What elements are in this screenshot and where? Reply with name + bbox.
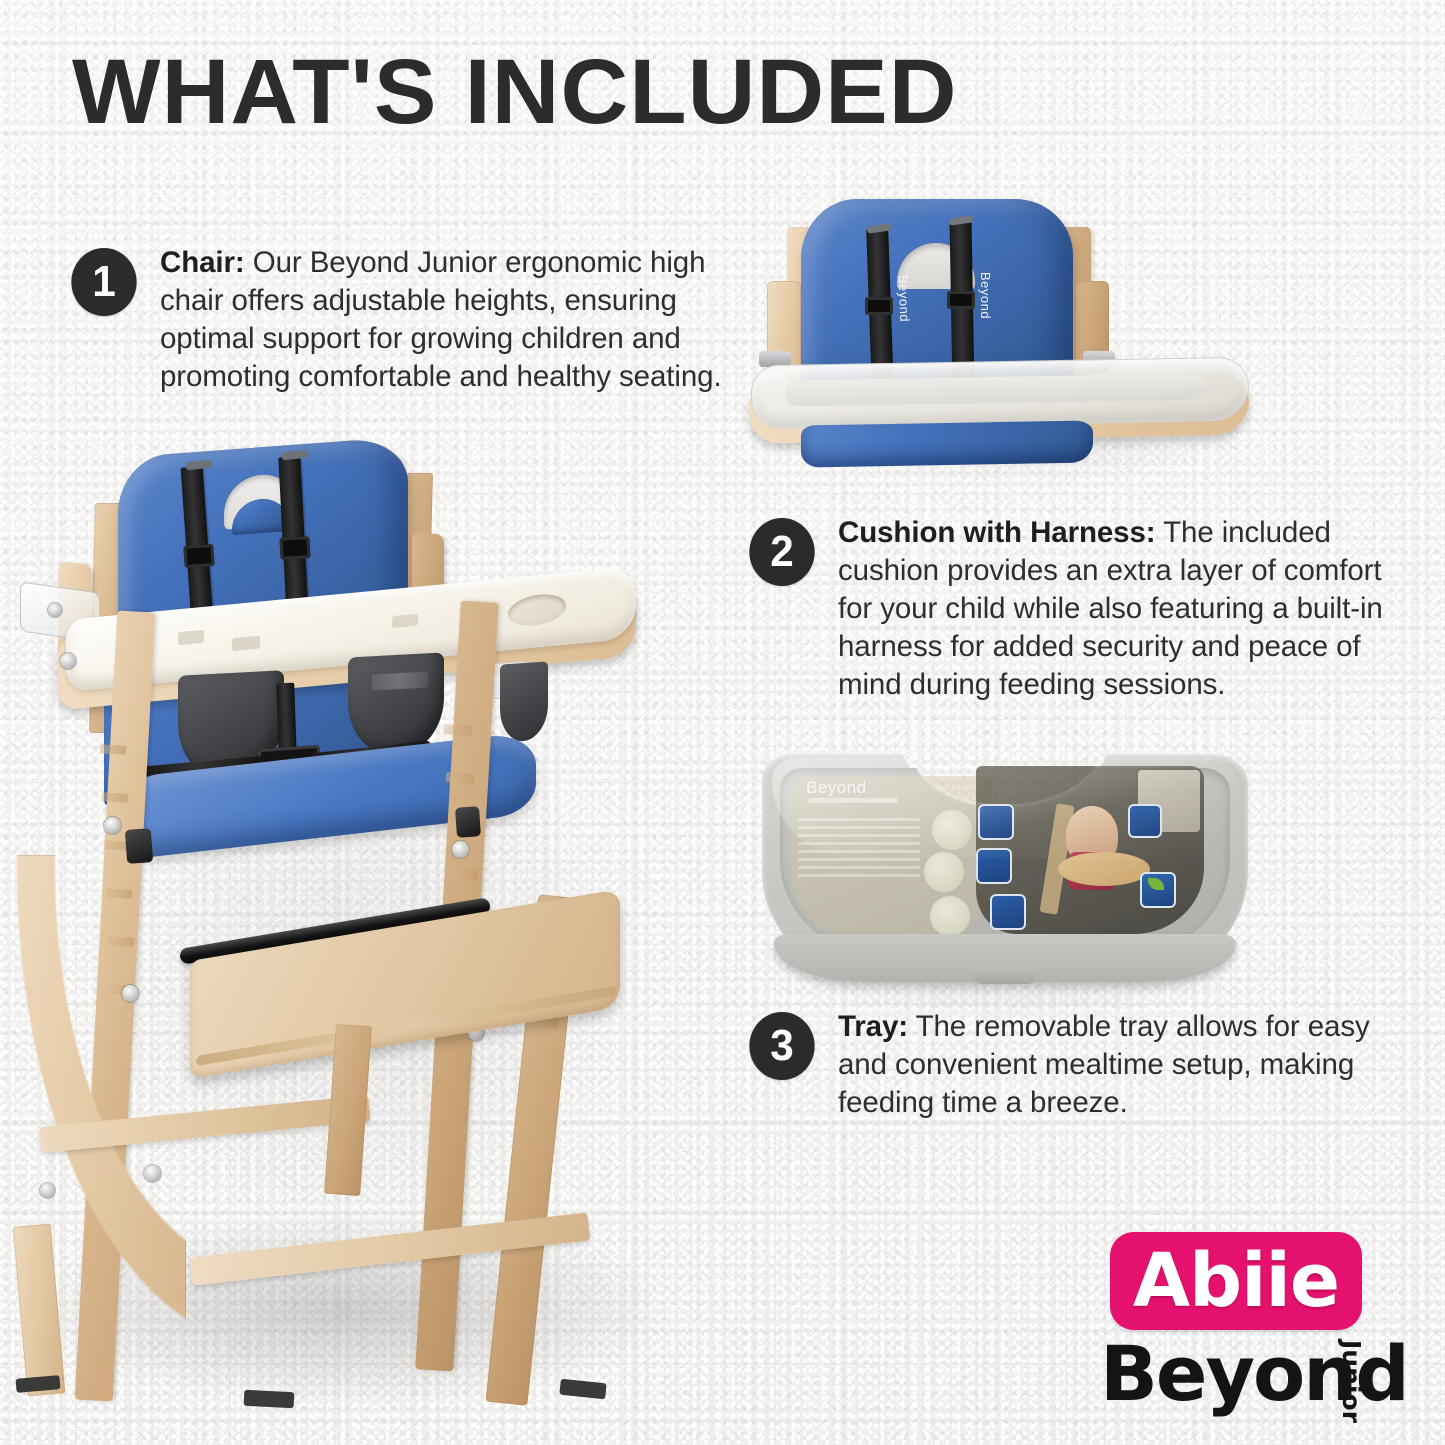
tray-release-tab	[974, 968, 1036, 984]
badge-number-3: 3	[749, 1012, 814, 1080]
included-item-1: 1 Chair: Our Beyond Junior ergonomic hig…	[70, 248, 730, 396]
infographic-canvas: WHAT'S INCLUDED	[0, 0, 1445, 1445]
harness-buckle-right	[279, 536, 310, 560]
tray-insert-brand-text: Beyond	[806, 778, 867, 798]
included-item-1-heading: Chair:	[160, 246, 245, 279]
tray-insert-tagline	[808, 798, 898, 803]
included-item-2-text: Cushion with Harness: The included cushi…	[838, 514, 1398, 704]
tray-groove-b	[232, 636, 260, 652]
included-item-3: 3 Tray: The removable tray allows for ea…	[748, 1012, 1388, 1122]
frame-screw-5	[452, 841, 469, 858]
frame-screw-1	[60, 653, 76, 669]
included-item-3-body: The removable tray allows for easy and c…	[838, 1010, 1370, 1119]
logo-product-qualifier-text: Junior	[1337, 1340, 1366, 1423]
brand-logo: Abiie ® Beyond Junior	[1100, 1232, 1400, 1427]
harness-buckle-left	[183, 544, 214, 568]
tray-insert-circle-3	[930, 896, 970, 936]
cushion-harness-buckle-right	[947, 291, 975, 309]
included-item-2: 2 Cushion with Harness: The included cus…	[748, 518, 1398, 704]
logo-brand-text: Abiie	[1110, 1232, 1362, 1330]
frame-screw-2	[104, 817, 121, 834]
tray-icon-badge-highchair	[976, 848, 1012, 884]
seat-adjust-pin	[125, 828, 153, 864]
page-title: WHAT'S INCLUDED	[72, 46, 958, 138]
high-chair-photo	[0, 425, 700, 1435]
tray-insert-paragraph	[798, 818, 920, 880]
tray-clip-screw	[48, 603, 62, 617]
tray-groove-c	[392, 614, 418, 628]
tray-insert-photo-tray	[1058, 852, 1150, 886]
harness-strap-label-left: Beyond	[834, 275, 915, 300]
included-item-3-text: Tray: The removable tray allows for easy…	[838, 1008, 1388, 1122]
included-item-2-heading: Cushion with Harness:	[838, 516, 1156, 549]
removable-tray-photo: Beyond	[762, 748, 1252, 998]
tray-icon-badge-bottle	[1128, 804, 1162, 838]
included-item-1-text: Chair: Our Beyond Junior ergonomic high …	[160, 244, 730, 396]
front-foot-left	[244, 1390, 295, 1409]
tray-insert-circle-2	[924, 852, 964, 892]
tray-icon-badge-thermometer	[990, 894, 1026, 930]
tray-icon-badge-grid	[978, 804, 1014, 840]
seat-adjust-pin-right	[455, 806, 481, 838]
cushion-with-harness-photo: Beyond Beyond	[745, 185, 1275, 480]
included-item-1-body: Our Beyond Junior ergonomic high chair o…	[160, 246, 722, 393]
tray-icon-badge-eco-leaf	[1140, 872, 1176, 908]
tray-groove-a	[178, 630, 204, 645]
badge-number-1: 1	[71, 248, 136, 316]
included-item-3-heading: Tray:	[838, 1010, 908, 1043]
seat-support-abiie-emboss	[372, 672, 428, 691]
cushion-harness-buckle-left	[865, 297, 893, 315]
cushion-seat-pad	[801, 420, 1093, 467]
tray-insert-circle-1	[932, 810, 972, 850]
badge-number-2: 2	[749, 518, 814, 586]
